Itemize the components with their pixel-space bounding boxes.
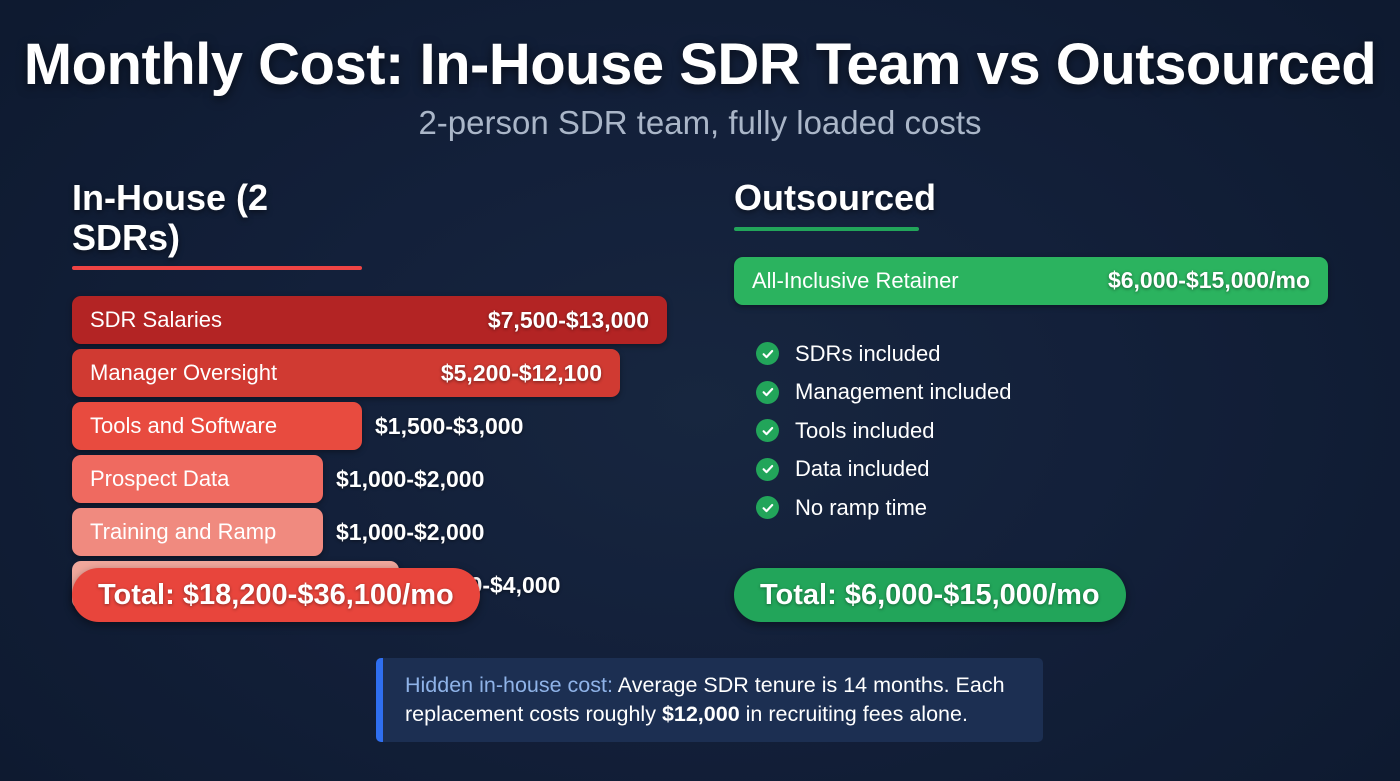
in-house-cost-item-value: $1,000-$2,000 <box>336 466 484 493</box>
in-house-cost-item-row: Training and Ramp$1,000-$2,000 <box>72 508 680 556</box>
in-house-cost-item-bar: Training and Ramp <box>72 508 323 556</box>
in-house-cost-item-label: Prospect Data <box>90 466 229 492</box>
in-house-cost-item-label: Tools and Software <box>90 413 277 439</box>
in-house-cost-item-bar: Manager Oversight$5,200-$12,100 <box>72 349 620 397</box>
in-house-cost-item-value: $5,200-$12,100 <box>441 360 602 387</box>
outsourced-underline <box>734 227 919 231</box>
outsourced-retainer-bar-wrap: All-Inclusive Retainer$6,000-$15,000/mo <box>734 257 1328 305</box>
in-house-underline <box>72 266 362 270</box>
in-house-cost-item-label: Training and Ramp <box>90 519 276 545</box>
in-house-cost-item-bar: Prospect Data <box>72 455 323 503</box>
page-header: Monthly Cost: In-House SDR Team vs Outso… <box>0 0 1400 141</box>
outsourced-heading: Outsourced <box>734 178 936 218</box>
checklist-item-label: SDRs included <box>795 341 941 367</box>
in-house-heading-wrap: In-House (2 SDRs) <box>72 178 362 270</box>
hidden-cost-text: Hidden in-house cost: Average SDR tenure… <box>405 671 1021 729</box>
in-house-cost-item-row: SDR Salaries$7,500-$13,000 <box>72 296 680 344</box>
checklist-item-label: No ramp time <box>795 495 927 521</box>
outsourced-total-badge: Total: $6,000-$15,000/mo <box>734 568 1126 622</box>
checklist-item: Tools included <box>756 412 1328 451</box>
outsourced-column: Outsourced All-Inclusive Retainer$6,000-… <box>700 178 1400 614</box>
checklist-item: Data included <box>756 450 1328 489</box>
outsourced-checklist: SDRs includedManagement includedTools in… <box>734 335 1328 528</box>
in-house-cost-item-value: $1,000-$2,000 <box>336 519 484 546</box>
in-house-cost-item-row: Manager Oversight$5,200-$12,100 <box>72 349 680 397</box>
in-house-column: In-House (2 SDRs) SDR Salaries$7,500-$13… <box>0 178 700 614</box>
in-house-cost-item-value: $7,500-$13,000 <box>488 307 649 334</box>
hidden-cost-amount: $12,000 <box>662 702 740 726</box>
in-house-cost-item-row: Prospect Data$1,000-$2,000 <box>72 455 680 503</box>
hidden-cost-body-2: in recruiting fees alone. <box>740 702 968 726</box>
comparison-columns: In-House (2 SDRs) SDR Salaries$7,500-$13… <box>0 178 1400 614</box>
check-circle-icon <box>756 419 779 442</box>
page-subtitle: 2-person SDR team, fully loaded costs <box>0 105 1400 141</box>
in-house-cost-item-bar: SDR Salaries$7,500-$13,000 <box>72 296 667 344</box>
in-house-cost-item-value: $1,500-$3,000 <box>375 413 523 440</box>
checklist-item: SDRs included <box>756 335 1328 374</box>
in-house-cost-item-label: Manager Oversight <box>90 360 277 386</box>
outsourced-retainer-bar: All-Inclusive Retainer$6,000-$15,000/mo <box>734 257 1328 305</box>
check-circle-icon <box>756 381 779 404</box>
checklist-item: No ramp time <box>756 489 1328 528</box>
outsourced-heading-wrap: Outsourced <box>734 178 919 231</box>
checklist-item: Management included <box>756 373 1328 412</box>
in-house-total-badge: Total: $18,200-$36,100/mo <box>72 568 480 622</box>
in-house-cost-item-label: SDR Salaries <box>90 307 222 333</box>
outsourced-retainer-value: $6,000-$15,000/mo <box>1108 267 1310 294</box>
in-house-cost-item-row: Tools and Software$1,500-$3,000 <box>72 402 680 450</box>
hidden-cost-callout: Hidden in-house cost: Average SDR tenure… <box>376 658 1043 742</box>
checklist-item-label: Management included <box>795 379 1011 405</box>
in-house-cost-item-bar: Tools and Software <box>72 402 362 450</box>
outsourced-retainer-row: All-Inclusive Retainer$6,000-$15,000/mo <box>734 257 1328 305</box>
hidden-cost-lead: Hidden in-house cost: <box>405 673 613 697</box>
in-house-heading: In-House (2 SDRs) <box>72 178 362 257</box>
in-house-cost-bars: SDR Salaries$7,500-$13,000Manager Oversi… <box>72 296 680 609</box>
check-circle-icon <box>756 342 779 365</box>
checklist-item-label: Tools included <box>795 418 934 444</box>
check-circle-icon <box>756 496 779 519</box>
check-circle-icon <box>756 458 779 481</box>
checklist-item-label: Data included <box>795 456 930 482</box>
outsourced-retainer-label: All-Inclusive Retainer <box>752 268 959 294</box>
page-title: Monthly Cost: In-House SDR Team vs Outso… <box>0 34 1400 97</box>
